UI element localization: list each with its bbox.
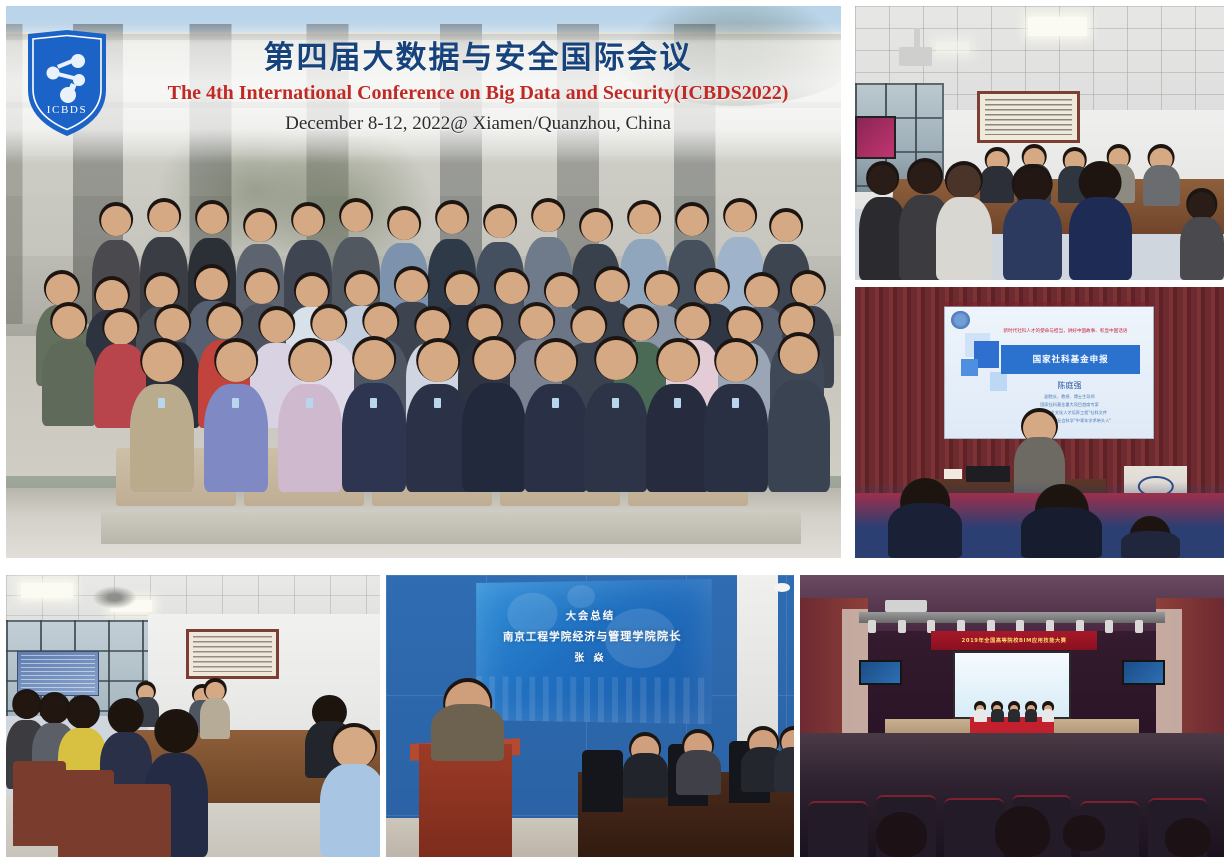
chair — [582, 750, 623, 812]
projector — [899, 47, 932, 66]
calligraphy-scroll — [977, 91, 1080, 143]
slide-title-text: 国家社科基金申报 — [1033, 353, 1109, 365]
photo-collage: ICBDS 第四届大数据与安全国际会议 The 4th Internationa… — [0, 0, 1230, 862]
conference-title-english: The 4th International Conference on Big … — [118, 80, 838, 107]
chair — [107, 784, 171, 857]
attendee — [1003, 168, 1062, 280]
attendee — [936, 165, 991, 280]
audience-head — [1165, 818, 1212, 857]
ceiling-light — [1028, 17, 1087, 36]
name-badge — [370, 398, 377, 408]
white-wall-column — [737, 575, 778, 755]
stage-person — [1008, 705, 1021, 722]
decor-bubble — [567, 585, 595, 608]
side-monitor-left — [859, 660, 901, 685]
auditorium-photo: 2019年全国高等院校BIM应用技能大赛 — [800, 575, 1224, 857]
stage-banner: 2019年全国高等院校BIM应用技能大赛 — [931, 631, 1096, 649]
name-card — [944, 469, 962, 480]
projection-screen — [17, 651, 99, 696]
name-badge — [232, 398, 239, 408]
slide-header-text: 新时代社科人才的使命与担当，讲好中国故事、彰显中国话语 — [990, 328, 1140, 334]
speaker — [431, 682, 504, 761]
stage-person — [991, 705, 1004, 722]
audience-member — [888, 482, 962, 558]
projector — [885, 600, 927, 611]
slide-decor-block — [961, 359, 978, 376]
stage-light — [868, 620, 876, 633]
panelist — [676, 733, 721, 795]
svg-text:ICBDS: ICBDS — [47, 104, 87, 116]
university-logo-icon — [951, 311, 970, 329]
screen-line-1: 大会总结 — [476, 606, 711, 623]
name-badge — [552, 398, 559, 408]
wall-display — [855, 116, 896, 160]
closing-address-photo: 大会总结 南京工程学院经济与管理学院院长 张 焱 — [386, 575, 794, 857]
ceiling-light — [774, 583, 790, 591]
audience-head — [876, 812, 927, 857]
classroom-meeting-photo — [6, 575, 380, 857]
screen-line-2: 南京工程学院经济与管理学院院长 — [476, 626, 711, 643]
stage-platform — [101, 512, 801, 544]
slide-decor-block — [990, 372, 1007, 390]
icbds-shield-logo: ICBDS — [24, 28, 110, 138]
stage-light — [898, 620, 906, 633]
name-badge — [732, 398, 739, 408]
conference-group-photo: ICBDS 第四届大数据与安全国际会议 The 4th Internationa… — [6, 6, 841, 558]
meeting-room-photo — [855, 6, 1224, 280]
conference-banner-text: 第四届大数据与安全国际会议 The 4th International Conf… — [118, 40, 838, 136]
stage-banner-text: 2019年全国高等院校BIM应用技能大赛 — [962, 637, 1067, 644]
ceiling-light — [936, 42, 969, 53]
stage-person — [974, 705, 987, 722]
audience-head — [995, 806, 1050, 857]
name-badge — [306, 398, 313, 408]
stage-person — [1025, 705, 1038, 722]
decor-skyline — [476, 676, 711, 724]
panelist — [1143, 148, 1180, 206]
stage-person — [1042, 705, 1055, 722]
projection-border — [944, 302, 1154, 307]
side-monitor-right — [1122, 660, 1164, 685]
name-badge — [674, 398, 681, 408]
panelist — [774, 730, 794, 792]
conference-title-chinese: 第四届大数据与安全国际会议 — [118, 40, 838, 77]
slide-title-bar: 国家社科基金申报 — [1001, 345, 1141, 374]
projector-mount — [914, 28, 920, 50]
calligraphy-scroll — [186, 629, 280, 680]
audience-member — [1121, 520, 1180, 558]
stage-light — [1135, 620, 1143, 633]
panelist — [623, 736, 668, 798]
name-badge — [434, 398, 441, 408]
laptop — [966, 466, 1010, 482]
name-badge — [612, 398, 619, 408]
attendee — [1069, 165, 1132, 280]
audience-member — [1021, 488, 1102, 558]
ceiling-light — [21, 583, 73, 597]
screen-line-3: 张 焱 — [476, 648, 711, 663]
ceiling-fan — [92, 586, 137, 609]
conference-date-location: December 8-12, 2022@ Xiamen/Quanzhou, Ch… — [118, 111, 838, 137]
stage-light — [1105, 620, 1113, 633]
attendee — [320, 727, 380, 857]
seat — [808, 801, 867, 857]
slide-affiliation-2: 国家社科基金重大项目首席专家 — [999, 401, 1141, 408]
slide-speaker-name: 陈庭强 — [1007, 380, 1132, 391]
led-screen: 大会总结 南京工程学院经济与管理学院院长 张 焱 — [476, 579, 711, 724]
attendee — [1180, 192, 1224, 280]
audience-head — [1063, 815, 1105, 852]
name-badge — [158, 398, 165, 408]
lecture-hall-photo: 新时代社科人才的使命与担当，讲好中国故事、彰显中国话语 国家社科基金申报 陈庭强… — [855, 287, 1224, 558]
slide-affiliation-1: 副院长、教授、博士生导师 — [999, 393, 1141, 400]
